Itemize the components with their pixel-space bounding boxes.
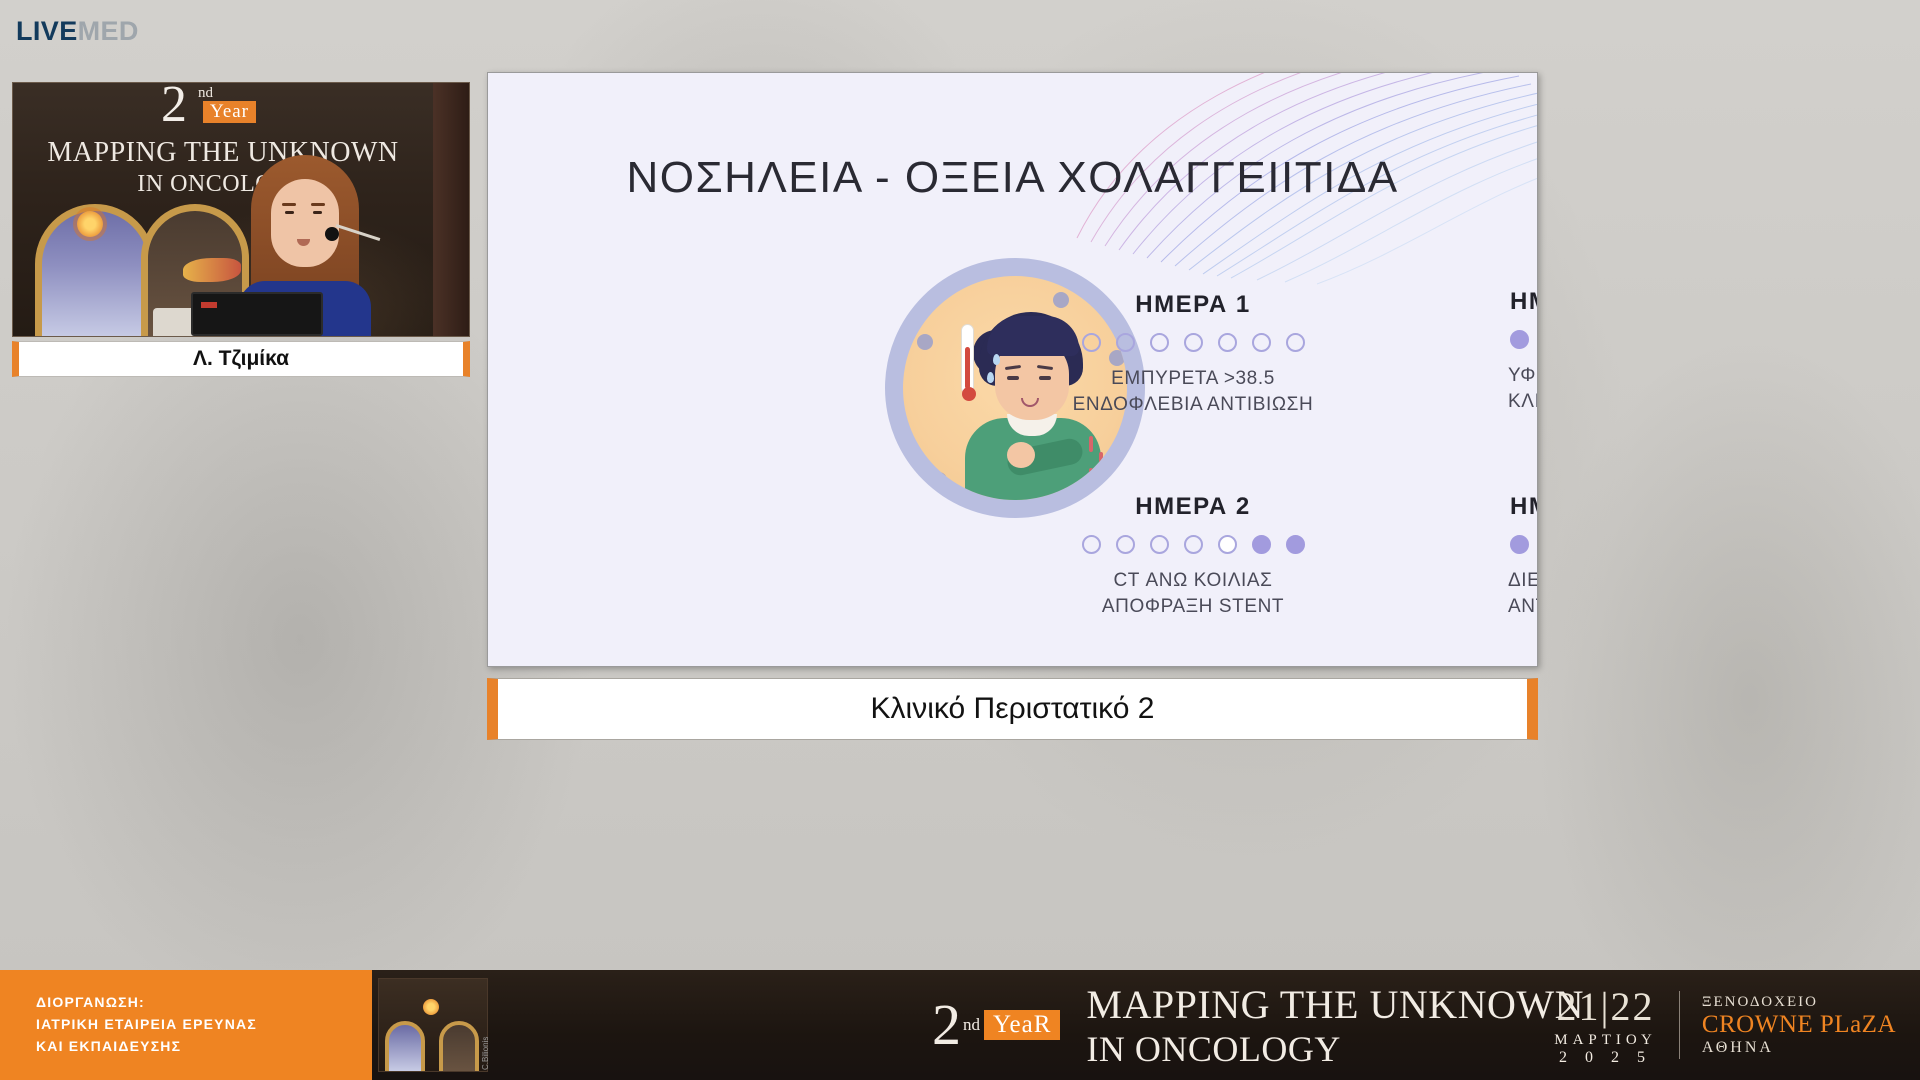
footer-divider	[1679, 991, 1680, 1059]
day-7-label: ΗΜΕΡΑ 7	[1498, 288, 1538, 316]
banner-year-badge: Year	[203, 101, 256, 123]
speaker-name: Λ. Τζιμίκα	[193, 347, 289, 371]
virus-icon	[931, 472, 947, 488]
progress-dot-open	[1116, 535, 1135, 554]
video-stage-banner: 2 nd Year MAPPING THE UNKNOWN IN ONCOLOG…	[13, 83, 433, 203]
day-10-label: ΗΜΕΡΑ 10	[1498, 493, 1538, 521]
session-caption-bar: Κλινικό Περιστατικό 2	[487, 678, 1538, 740]
speaker-brow-right	[311, 203, 325, 206]
event-title-line-1: MAPPING THE UNKNOWN	[1086, 981, 1584, 1028]
speaker-eye-right	[313, 211, 322, 214]
day-2-line-2: ΑΠΟΦΡΑΞΗ STENT	[1033, 594, 1353, 620]
livemed-logo: LIVEMED	[16, 16, 139, 47]
patient-hand	[1007, 442, 1035, 468]
day-10-lines: ΔΙΕΝΕΡΓΕΙΑ ERCP ΑΝΤΙΚΑΤΑΣΤΑΣΗ STENT	[1498, 568, 1538, 619]
progress-dot-open	[1082, 333, 1101, 352]
progress-dot-filled	[1510, 330, 1529, 349]
event-venue: ΞΕΝΟΔΟΧΕΙΟ CROWNE PLaZA ΑΘΗΝΑ	[1702, 994, 1896, 1057]
laptop	[191, 292, 323, 336]
speaker-panel: 2 nd Year MAPPING THE UNKNOWN IN ONCOLOG…	[12, 82, 470, 377]
progress-dot-filled	[1286, 535, 1305, 554]
banner-ordinal: nd	[198, 85, 213, 102]
event-title: 2 nd YeaR MAPPING THE UNKNOWN IN ONCOLOG…	[932, 970, 1584, 1080]
stage-sun-icon	[77, 211, 103, 237]
event-year-badge: YeaR	[984, 1010, 1060, 1040]
progress-dot-open	[1286, 333, 1305, 352]
progress-dot-white	[1218, 535, 1237, 554]
microphone-icon	[325, 227, 339, 241]
day-2-dots	[1033, 535, 1353, 554]
event-number: 2	[932, 996, 961, 1054]
virus-icon	[917, 334, 933, 350]
organizer-line-3: ΚΑΙ ΕΚΠΑΙΔΕΥΣΗΣ	[36, 1036, 372, 1058]
footer-title-block: C.Bilionis 2 nd YeaR MAPPING THE UNKNOWN…	[372, 970, 1920, 1080]
artwork-arch-right-icon	[439, 1021, 479, 1072]
speaker-eye-left	[285, 211, 294, 214]
video-wall	[433, 83, 469, 336]
timeline-day-1: ΗΜΕΡΑ 1 ΕΜΠΥΡΕΤΑ >38.5 ΕΝΔΟΦΛΕΒΙΑ ΑΝΤΙΒΙ…	[1033, 291, 1353, 417]
presentation-slide[interactable]: ΝΟΣΗΛΕΙΑ - ΟΞΕΙΑ ΧΟΛΑΓΓΕΙΙΤΙΔΑ	[487, 72, 1538, 667]
venue-city: ΑΘΗΝΑ	[1702, 1039, 1896, 1057]
day-1-lines: ΕΜΠΥΡΕΤΑ >38.5 ΕΝΔΟΦΛΕΒΙΑ ΑΝΤΙΒΙΩΣΗ	[1033, 366, 1353, 417]
day-1-label: ΗΜΕΡΑ 1	[1033, 291, 1353, 319]
day-7-line-2: ΚΛΙΝΙΚΗ ΒΕΛΤΙΩΣΗ	[1508, 389, 1538, 415]
speaker-video[interactable]: 2 nd Year MAPPING THE UNKNOWN IN ONCOLOG…	[12, 82, 470, 337]
day-2-label: ΗΜΕΡΑ 2	[1033, 493, 1353, 521]
stage-fish-icon	[183, 258, 241, 282]
day-1-line-2: ΕΝΔΟΦΛΕΒΙΑ ΑΝΤΙΒΙΩΣΗ	[1033, 392, 1353, 418]
timeline-day-2: ΗΜΕΡΑ 2 CT ΑΝΩ ΚΟΙΛΙΑΣ ΑΠΟΦΡΑΞΗ STENT	[1033, 493, 1353, 619]
timeline-day-7: ΗΜΕΡΑ 7 ΥΦΕΣΗ ΕΜΠΥΡΕΤΩΝ ΚΛΙΝΙΚΗ ΒΕΛΤΙΩΣΗ	[1498, 288, 1538, 414]
venue-name: CROWNE PLaZA	[1702, 1011, 1896, 1039]
patient-eye-left	[1007, 376, 1019, 380]
organizer-line-2: ΙΑΤΡΙΚΗ ΕΤΑΙΡΕΙΑ ΕΡΕΥΝΑΣ	[36, 1014, 372, 1036]
sweat-drop-icon	[993, 354, 1000, 365]
day-7-line-1: ΥΦΕΣΗ ΕΜΠΥΡΕΤΩΝ	[1508, 363, 1538, 389]
progress-dot-filled	[1252, 535, 1271, 554]
artwork-credit: C.Bilionis	[481, 1037, 490, 1070]
progress-dot-open	[1252, 333, 1271, 352]
organizer-block: ΔΙΟΡΓΑΝΩΣΗ: ΙΑΤΡΙΚΗ ΕΤΑΙΡΕΙΑ ΕΡΕΥΝΑΣ ΚΑΙ…	[0, 970, 372, 1080]
progress-dot-open	[1184, 535, 1203, 554]
banner-line-1: MAPPING THE UNKNOWN	[13, 137, 433, 169]
thermometer-mercury	[965, 347, 970, 389]
pain-line-icon	[1099, 452, 1103, 468]
speaker-brow-left	[282, 203, 296, 206]
event-date-days: 21|22	[1554, 983, 1657, 1030]
day-10-line-1: ΔΙΕΝΕΡΓΕΙΑ ERCP	[1508, 568, 1538, 594]
logo-live-text: LIVE	[16, 16, 78, 46]
progress-dot-open	[1082, 535, 1101, 554]
event-date: 21|22 ΜΑΡΤΙΟΥ 2 0 2 5	[1554, 983, 1657, 1067]
progress-dot-filled	[1510, 535, 1529, 554]
pain-line-icon	[1089, 436, 1093, 452]
venue-label: ΞΕΝΟΔΟΧΕΙΟ	[1702, 994, 1896, 1011]
day-10-line-2: ΑΝΤΙΚΑΤΑΣΤΑΣΗ STENT	[1508, 594, 1538, 620]
day-1-line-1: ΕΜΠΥΡΕΤΑ >38.5	[1033, 366, 1353, 392]
session-caption-text: Κλινικό Περιστατικό 2	[871, 692, 1155, 726]
artwork-sun-icon	[423, 999, 439, 1015]
event-date-year: 2 0 2 5	[1554, 1049, 1657, 1067]
speaker-face	[271, 179, 339, 267]
day-7-lines: ΥΦΕΣΗ ΕΜΠΥΡΕΤΩΝ ΚΛΙΝΙΚΗ ΒΕΛΤΙΩΣΗ	[1498, 363, 1538, 414]
day-2-lines: CT ΑΝΩ ΚΟΙΛΙΑΣ ΑΠΟΦΡΑΞΗ STENT	[1033, 568, 1353, 619]
progress-dot-open	[1184, 333, 1203, 352]
banner-line-2: IN ONCOLOGY	[13, 171, 433, 198]
slide-title: ΝΟΣΗΛΕΙΑ - ΟΞΕΙΑ ΧΟΛΑΓΓΕΙΙΤΙΔΑ	[488, 153, 1537, 203]
day-1-dots	[1033, 333, 1353, 352]
laptop-logo-icon	[201, 302, 217, 308]
event-artwork-thumbnail	[378, 978, 488, 1072]
day-2-line-1: CT ΑΝΩ ΚΟΙΛΙΑΣ	[1033, 568, 1353, 594]
speaker-name-bar: Λ. Τζιμίκα	[12, 341, 470, 377]
progress-dot-open	[1116, 333, 1135, 352]
thermometer-icon	[961, 324, 974, 394]
event-date-venue: 21|22 ΜΑΡΤΙΟΥ 2 0 2 5 ΞΕΝΟΔΟΧΕΙΟ CROWNE …	[1554, 970, 1896, 1080]
banner-number: 2	[161, 82, 187, 134]
artwork-arch-left-icon	[385, 1021, 425, 1072]
event-title-line-2: IN ONCOLOGY	[1086, 1028, 1584, 1070]
pain-line-icon	[1089, 468, 1093, 484]
thermometer-bulb	[962, 387, 976, 401]
day-10-dots	[1498, 535, 1538, 554]
progress-dot-open	[1150, 535, 1169, 554]
progress-dot-open	[1150, 333, 1169, 352]
event-footer: ΔΙΟΡΓΑΝΩΣΗ: ΙΑΤΡΙΚΗ ΕΤΑΙΡΕΙΑ ΕΡΕΥΝΑΣ ΚΑΙ…	[0, 970, 1920, 1080]
timeline-day-10: ΗΜΕΡΑ 10 ΔΙΕΝΕΡΓΕΙΑ ERCP ΑΝΤΙΚΑΤΑΣΤΑΣΗ S…	[1498, 493, 1538, 619]
day-7-dots	[1498, 330, 1538, 349]
event-date-month: ΜΑΡΤΙΟΥ	[1554, 1032, 1657, 1049]
sweat-drop-icon	[987, 372, 994, 383]
organizer-line-1: ΔΙΟΡΓΑΝΩΣΗ:	[36, 992, 372, 1014]
logo-med-text: MED	[78, 16, 139, 46]
progress-dot-open	[1218, 333, 1237, 352]
event-ordinal: nd	[963, 1015, 980, 1035]
